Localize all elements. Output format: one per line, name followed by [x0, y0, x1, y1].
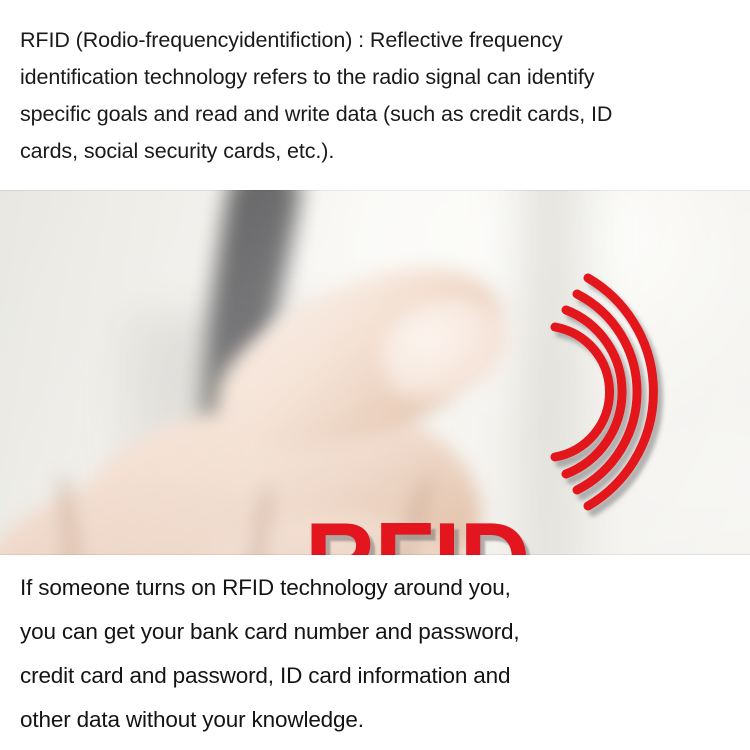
photo-bottom-edge	[0, 554, 750, 555]
bottom-paragraph-line-3: credit card and password, ID card inform…	[20, 654, 732, 698]
bottom-paragraph: If someone turns on RFID technology arou…	[0, 566, 750, 742]
photo-top-edge	[0, 190, 750, 191]
top-paragraph: RFID (Rodio-frequencyidentifiction) : Re…	[0, 22, 750, 170]
bottom-paragraph-line-2: you can get your bank card number and pa…	[20, 610, 732, 654]
top-paragraph-line-3: specific goals and read and write data (…	[20, 96, 732, 133]
bottom-paragraph-line-4: other data without your knowledge.	[20, 698, 732, 742]
top-paragraph-line-1: RFID (Rodio-frequencyidentifiction) : Re…	[20, 22, 732, 59]
top-paragraph-line-4: cards, social security cards, etc.).	[20, 133, 732, 170]
top-paragraph-line-2: identification technology refers to the …	[20, 59, 732, 96]
blurred-hand	[0, 230, 640, 555]
product-description-page: RFID (Rodio-frequencyidentifiction) : Re…	[0, 0, 750, 750]
rfid-hero-image: RFID	[0, 190, 750, 555]
bottom-paragraph-line-1: If someone turns on RFID technology arou…	[20, 566, 732, 610]
